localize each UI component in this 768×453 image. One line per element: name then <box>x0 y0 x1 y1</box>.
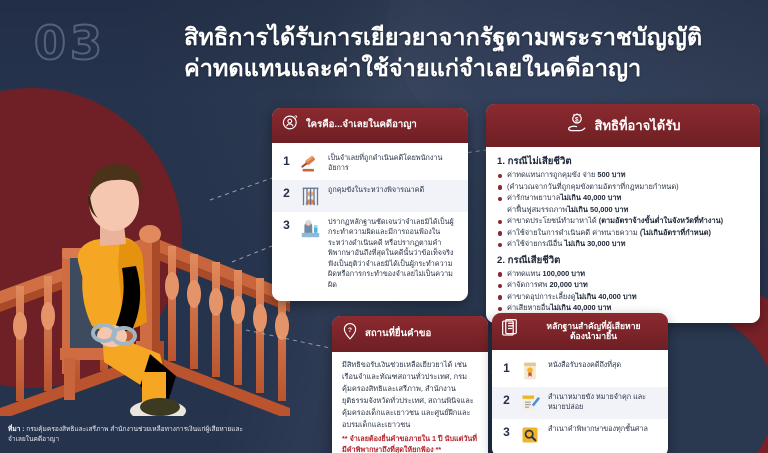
page-title-line2: ค่าทดแทนและค่าใช้จ่ายแก่จำเลยในคดีอาญา <box>184 53 754 84</box>
card-rights: $ สิทธิที่อาจได้รับ 1. กรณีไม่เสียชีวิต … <box>486 104 760 323</box>
card-who-is-defendant-title: ใครคือ...จำเลยในคดีอาญา <box>306 119 417 131</box>
card-rights-title: สิทธิที่อาจได้รับ <box>595 118 681 134</box>
svg-text:$: $ <box>574 116 578 123</box>
list-item-text: เป็นจำเลยที่ถูกดำเนินคดีโดยพนักงานอัยการ <box>328 153 459 174</box>
rights-bullet-cont: ค่าฟื้นฟูสมรรถภาพไม่เกิน 50,000 บาท <box>497 205 749 216</box>
warrant-icon <box>519 392 541 414</box>
certificate-icon <box>519 360 541 382</box>
rights-section-title: 1. กรณีไม่เสียชีวิต <box>497 154 749 169</box>
rights-bullet: (คำนวณจากวันที่ถูกคุมขังตามอัตราที่กฎหมา… <box>497 182 749 193</box>
card-place-title: สถานที่ยื่นคำขอ <box>365 328 431 340</box>
rights-section-1-list: ค่าทดแทน 100,000 บาท ค่าจัดการศพ 20,000 … <box>497 269 749 314</box>
card-place-to-submit: ? สถานที่ยื่นคำขอ มีสิทธิขอรับเงินช่วยเห… <box>332 316 488 453</box>
svg-text:?: ? <box>348 327 352 334</box>
rights-bullet: ค่าทดแทน 100,000 บาท <box>497 269 749 280</box>
person-question-icon: ? <box>282 114 299 136</box>
source-text: กรมคุ้มครองสิทธิและเสรีภาพ สำนักงานช่วยเ… <box>8 426 243 443</box>
card-who-is-defendant-header: ? ใครคือ...จำเลยในคดีอาญา <box>272 108 468 143</box>
gavel-icon <box>299 153 321 175</box>
list-item[interactable]: 2 ถูกคุมขังในระหว่างพิจารณาคดี <box>272 180 468 212</box>
list-item[interactable]: 1 เป็นจำเลยที่ถูกดำเนินคดีโดยพนักงานอัยก… <box>272 148 468 180</box>
documents-icon <box>501 318 521 344</box>
rights-bullet: ค่าขาดประโยชน์ทำมาหาได้ (ตามอัตราจ้างขั้… <box>497 216 749 227</box>
card-evidence-title-line2: ต้องนำมายื่น <box>570 331 617 341</box>
list-item-number: 2 <box>501 392 512 407</box>
list-item[interactable]: 3 ปรากฏหลักฐานชัดเจนว่าจำเลยมิได้เป็นผู้… <box>272 212 468 295</box>
page-title-line1: สิทธิการได้รับการเยียวยาจากรัฐตามพระราชบ… <box>184 24 702 50</box>
page-title: สิทธิการได้รับการเยียวยาจากรัฐตามพระราชบ… <box>184 22 754 84</box>
list-item-text: ถูกคุมขังในระหว่างพิจารณาคดี <box>328 185 459 195</box>
question-pin-icon: ? <box>342 322 358 345</box>
card-evidence-header: หลักฐานสำคัญที่ผู้เสียหาย ต้องนำมายื่น <box>492 313 668 350</box>
card-rights-header: $ สิทธิที่อาจได้รับ <box>486 104 760 147</box>
card-who-is-defendant: ? ใครคือ...จำเลยในคดีอาญา 1 เป็นจำเลยที่… <box>272 108 468 301</box>
card-place-header: ? สถานที่ยื่นคำขอ <box>332 316 488 352</box>
rights-bullet: ค่ารักษาพยาบาลไม่เกิน 40,000 บาท <box>497 193 749 204</box>
list-item[interactable]: 2 สำเนาหมายขัง หมายจำคุก และหมายปล่อย <box>492 387 668 419</box>
list-item-text: ปรากฏหลักฐานชัดเจนว่าจำเลยมิได้เป็นผู้กร… <box>328 217 459 290</box>
card-place-paragraph: มีสิทธิขอรับเงินช่วยเหลือเยียวยาได้ เช่น… <box>332 352 488 434</box>
section-number-badge: 03 <box>34 16 106 70</box>
judge-icon <box>299 217 321 239</box>
card-evidence-title: หลักฐานสำคัญที่ผู้เสียหาย ต้องนำมายื่น <box>528 321 659 342</box>
rights-bullet: ค่าใช้จ่ายกรณีอื่น ไม่เกิน 30,000 บาท <box>497 239 749 250</box>
card-rights-body: 1. กรณีไม่เสียชีวิต ค่าทดแทนการถูกคุมขัง… <box>486 147 760 323</box>
card-required-evidence: หลักฐานสำคัญที่ผู้เสียหาย ต้องนำมายื่น 1… <box>492 313 668 453</box>
rights-bullet: ค่าใช้จ่ายในการดำเนินคดี ค่าทนายความ (ไม… <box>497 228 749 239</box>
card-place-warning: ** จำเลยต้องยื่นคำขอภายใน 1 ปี นับแต่วัน… <box>332 434 488 453</box>
card-evidence-title-line1: หลักฐานสำคัญที่ผู้เสียหาย <box>546 321 640 331</box>
list-item[interactable]: 1 หนังสือรับรองคดีถึงที่สุด <box>492 355 668 387</box>
card-evidence-body: 1 หนังสือรับรองคดีถึงที่สุด 2 <box>492 350 668 453</box>
rights-bullet: ค่าทดแทนการถูกคุมขัง จ่าย 500 บาท <box>497 170 749 181</box>
rights-section-title: 2. กรณีเสียชีวิต <box>497 253 749 268</box>
list-item-number: 3 <box>281 217 292 232</box>
source-label: ที่มา : <box>8 426 26 433</box>
list-item-text: สำเนาคำพิพากษาของทุกชั้นศาล <box>548 424 659 434</box>
rights-section-0-list: ค่าทดแทนการถูกคุมขัง จ่าย 500 บาท (คำนวณ… <box>497 170 749 250</box>
card-place-body: มีสิทธิขอรับเงินช่วยเหลือเยียวยาได้ เช่น… <box>332 352 488 453</box>
list-item[interactable]: 3 สำเนาคำพิพากษาของทุกชั้นศาล <box>492 419 668 451</box>
money-hand-icon: $ <box>566 112 588 139</box>
card-who-is-defendant-body: 1 เป็นจำเลยที่ถูกดำเนินคดีโดยพนักงานอัยก… <box>272 143 468 301</box>
defendant-illustration <box>0 86 290 416</box>
rights-bullet: ค่าขาดอุปการะเลี้ยงดูไม่เกิน 40,000 บาท <box>497 292 749 303</box>
rights-bullet: ค่าจัดการศพ 20,000 บาท <box>497 280 749 291</box>
svg-text:?: ? <box>294 116 298 122</box>
list-item-number: 1 <box>281 153 292 168</box>
verdict-icon <box>519 424 541 446</box>
list-item-text: สำเนาหมายขัง หมายจำคุก และหมายปล่อย <box>548 392 659 413</box>
source-footer: ที่มา : กรมคุ้มครองสิทธิและเสรีภาพ สำนัก… <box>8 425 248 445</box>
list-item-number: 3 <box>501 424 512 439</box>
list-item-number: 1 <box>501 360 512 375</box>
list-item-number: 2 <box>281 185 292 200</box>
list-item-text: หนังสือรับรองคดีถึงที่สุด <box>548 360 659 370</box>
jail-icon <box>299 185 321 207</box>
